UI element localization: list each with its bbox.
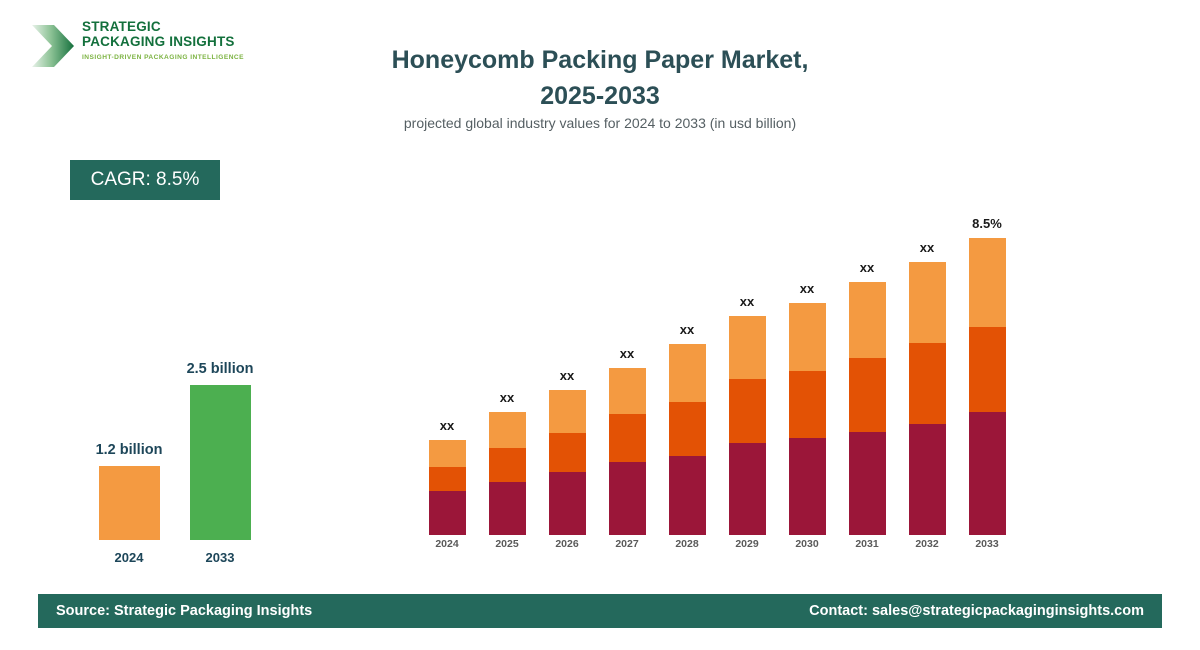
mini-bar-year-label: 2024 <box>79 550 179 565</box>
stacked-bar-segment-segment-1 <box>969 412 1006 535</box>
stacked-bar-segment-segment-2 <box>729 379 766 443</box>
mini-bar-group: 2.5 billion2033 <box>170 361 270 565</box>
stacked-bar-year-label: 2026 <box>538 538 596 550</box>
stacked-bar-segment-segment-2 <box>669 402 706 455</box>
stacked-bar-segment-segment-3 <box>789 303 826 371</box>
stacked-bar-top-label: xx <box>598 346 656 361</box>
stacked-bar-group: xx2030 <box>778 281 836 535</box>
stacked-bar-segment-segment-3 <box>489 412 526 448</box>
stacked-bar <box>789 303 826 535</box>
stacked-bar <box>669 344 706 535</box>
stacked-bar-segment-segment-3 <box>849 282 886 358</box>
stacked-bar-group: xx2031 <box>838 260 896 535</box>
stacked-bar-group: xx2028 <box>658 322 716 535</box>
stacked-bar <box>609 368 646 535</box>
logo-line-2: PACKAGING INSIGHTS <box>82 35 252 50</box>
stacked-bar-top-label: 8.5% <box>958 216 1016 231</box>
stacked-bar-top-label: xx <box>718 294 776 309</box>
footer-bar: Source: Strategic Packaging Insights Con… <box>38 594 1162 628</box>
brand-logo: STRATEGIC PACKAGING INSIGHTS INSIGHT-DRI… <box>30 18 250 76</box>
stacked-bar-segment-segment-1 <box>429 491 466 535</box>
stacked-bar-segment-segment-2 <box>549 433 586 472</box>
stacked-bar-year-label: 2033 <box>958 538 1016 550</box>
stacked-bar-group: xx2024 <box>418 418 476 535</box>
stacked-bar-segment-segment-2 <box>849 358 886 432</box>
stacked-bar-year-label: 2029 <box>718 538 776 550</box>
stacked-bar-group: xx2025 <box>478 390 536 535</box>
stacked-bar-segment-segment-1 <box>849 432 886 536</box>
stacked-bar-segment-segment-3 <box>669 344 706 402</box>
stacked-bar-year-label: 2028 <box>658 538 716 550</box>
mini-bar-group: 1.2 billion2024 <box>79 442 179 565</box>
stacked-bar-segment-segment-2 <box>489 448 526 482</box>
stacked-bar-group: xx2032 <box>898 240 956 535</box>
stacked-bar-segment-segment-1 <box>729 443 766 535</box>
stacked-bar <box>969 238 1006 535</box>
stacked-bar-segment-segment-3 <box>969 238 1006 327</box>
stacked-bar-year-label: 2024 <box>418 538 476 550</box>
stacked-bar-segment-segment-2 <box>909 343 946 423</box>
stacked-bar-top-label: xx <box>838 260 896 275</box>
market-size-comparison-chart: 1.2 billion20242.5 billion2033 <box>40 300 280 565</box>
stacked-bar-segment-segment-2 <box>789 371 826 439</box>
logo-wordmark: STRATEGIC PACKAGING INSIGHTS INSIGHT-DRI… <box>82 20 252 61</box>
stacked-bar-top-label: xx <box>478 390 536 405</box>
cagr-badge: CAGR: 8.5% <box>70 160 220 200</box>
stacked-bar-segment-segment-3 <box>549 390 586 434</box>
stacked-bar-segment-segment-3 <box>729 316 766 379</box>
stacked-bar-top-label: xx <box>418 418 476 433</box>
logo-tagline: INSIGHT-DRIVEN PACKAGING INTELLIGENCE <box>82 54 252 61</box>
chevron-icon <box>30 22 76 70</box>
stacked-bar <box>729 316 766 535</box>
stacked-bar-year-label: 2030 <box>778 538 836 550</box>
stacked-bar-group: xx2027 <box>598 346 656 535</box>
stacked-bar-segment-segment-3 <box>609 368 646 414</box>
stacked-bar-year-label: 2031 <box>838 538 896 550</box>
page-title-line-1: Honeycomb Packing Paper Market, <box>300 42 900 78</box>
stacked-bar-year-label: 2032 <box>898 538 956 550</box>
footer-source: Source: Strategic Packaging Insights <box>56 603 312 619</box>
page-subtitle: projected global industry values for 202… <box>300 115 900 131</box>
stacked-bar <box>909 262 946 535</box>
stacked-bar-top-label: xx <box>658 322 716 337</box>
stacked-bar-year-label: 2027 <box>598 538 656 550</box>
stacked-bar-segment-segment-1 <box>609 462 646 535</box>
stacked-bar-segment-segment-2 <box>429 467 466 491</box>
cagr-badge-label: CAGR: 8.5% <box>91 169 200 191</box>
page-title: Honeycomb Packing Paper Market, 2025-203… <box>300 42 900 114</box>
stacked-bar-group: xx2029 <box>718 294 776 535</box>
page-title-line-2: 2025-2033 <box>300 78 900 114</box>
stacked-bar <box>549 390 586 535</box>
footer-contact: Contact: sales@strategicpackaginginsight… <box>809 603 1144 619</box>
stacked-bar-segment-segment-1 <box>669 456 706 535</box>
stacked-bar-segment-segment-1 <box>549 472 586 535</box>
stacked-bar-segment-segment-2 <box>609 414 646 462</box>
stacked-bar-segment-segment-1 <box>909 424 946 535</box>
stacked-bar <box>489 412 526 535</box>
stacked-bar-group: 8.5%2033 <box>958 216 1016 535</box>
mini-bar-value-label: 2.5 billion <box>170 361 270 377</box>
stacked-bar-top-label: xx <box>538 368 596 383</box>
stacked-bar-segment-segment-1 <box>789 438 826 535</box>
stacked-bar-top-label: xx <box>898 240 956 255</box>
stacked-bar-segment-segment-1 <box>489 482 526 535</box>
stacked-bar-segment-segment-3 <box>429 440 466 467</box>
segment-forecast-stacked-chart: xx2024xx2025xx2026xx2027xx2028xx2029xx20… <box>410 200 1010 560</box>
stacked-bar-top-label: xx <box>778 281 836 296</box>
stacked-bar <box>849 282 886 535</box>
stacked-bar-segment-segment-2 <box>969 327 1006 412</box>
logo-line-1: STRATEGIC <box>82 20 252 35</box>
mini-bar <box>99 466 160 540</box>
mini-bar-value-label: 1.2 billion <box>79 442 179 458</box>
stacked-bar-year-label: 2025 <box>478 538 536 550</box>
stacked-bar-group: xx2026 <box>538 368 596 535</box>
mini-bar <box>190 385 251 540</box>
mini-bar-year-label: 2033 <box>170 550 270 565</box>
stacked-bar <box>429 440 466 535</box>
stacked-bar-segment-segment-3 <box>909 262 946 343</box>
